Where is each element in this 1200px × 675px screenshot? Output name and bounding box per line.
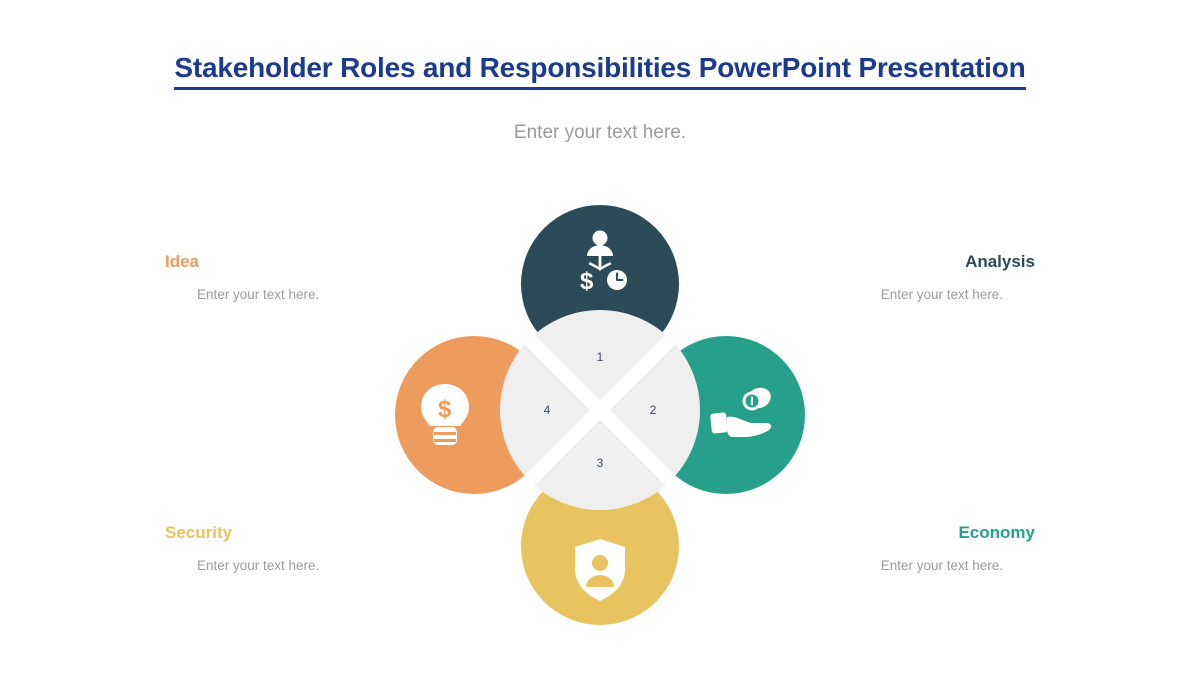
quadrant-number-1: 1 (588, 350, 612, 364)
svg-text:$: $ (438, 396, 452, 423)
label-title-analysis: Analysis (785, 252, 1035, 272)
page-title-text: Stakeholder Roles and Responsibilities P… (174, 52, 1025, 90)
label-title-idea: Idea (165, 252, 415, 272)
label-desc-security: Enter your text here. (165, 557, 415, 575)
four-petal-diagram: $ (395, 205, 805, 625)
label-block-analysis[interactable]: Analysis Enter your text here. (785, 252, 1035, 304)
label-title-security: Security (165, 523, 415, 543)
quadrant-number-3: 3 (588, 456, 612, 470)
slide-canvas: Stakeholder Roles and Responsibilities P… (0, 0, 1200, 675)
quadrant-number-2: 2 (641, 403, 665, 417)
label-block-idea[interactable]: Idea Enter your text here. (165, 252, 415, 304)
label-block-economy[interactable]: Economy Enter your text here. (785, 523, 1035, 575)
label-title-economy: Economy (785, 523, 1035, 543)
label-block-security[interactable]: Security Enter your text here. (165, 523, 415, 575)
page-title: Stakeholder Roles and Responsibilities P… (0, 52, 1200, 90)
label-desc-analysis: Enter your text here. (785, 286, 1035, 304)
label-desc-idea: Enter your text here. (165, 286, 415, 304)
center-wheel (500, 310, 700, 510)
quadrant-number-4: 4 (535, 403, 559, 417)
label-desc-economy: Enter your text here. (785, 557, 1035, 575)
slide-subtitle: Enter your text here. (0, 122, 1200, 144)
svg-text:$: $ (580, 268, 594, 295)
